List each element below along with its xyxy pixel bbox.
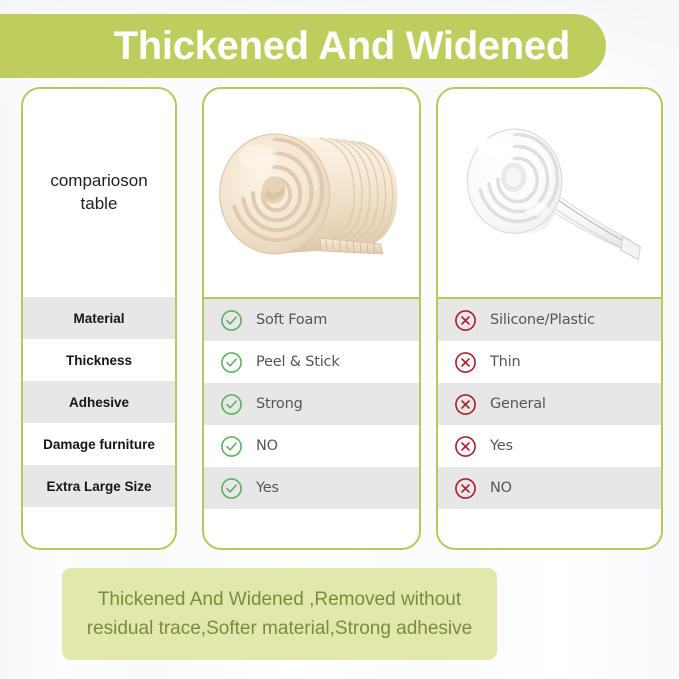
x-circle-icon xyxy=(454,351,477,374)
foam-value-rows: Soft Foam Peel & Stick xyxy=(204,299,419,509)
comparison-card-labels: comparioson table Material Thickness Adh… xyxy=(21,87,177,550)
footer-caption: Thickened And Widened ,Removed without r… xyxy=(62,568,497,660)
page-title: Thickened And Widened xyxy=(114,26,570,66)
infographic-page: Thickened And Widened comparioson table … xyxy=(0,0,679,679)
x-circle-icon xyxy=(454,393,477,416)
table-title-line-2: table xyxy=(81,194,118,213)
value-thickness-foam: Peel & Stick xyxy=(256,354,340,370)
table-row: Material xyxy=(23,297,175,339)
table-row: Adhesive xyxy=(23,381,175,423)
table-row: General xyxy=(438,383,661,425)
check-circle-icon xyxy=(220,393,243,416)
x-circle-icon xyxy=(454,477,477,500)
row-label-damage-furniture: Damage furniture xyxy=(23,437,175,452)
table-title-area: comparioson table xyxy=(23,89,175,297)
footer-caption-line-1: Thickened And Widened ,Removed without xyxy=(98,585,461,614)
table-row: Peel & Stick xyxy=(204,341,419,383)
value-damage-furniture-silicone: Yes xyxy=(490,438,513,454)
row-label-extra-large-size: Extra Large Size xyxy=(23,479,175,494)
check-circle-icon xyxy=(220,351,243,374)
table-row: Damage furniture xyxy=(23,423,175,465)
silicone-tape-illustration xyxy=(438,89,661,297)
foam-product-image xyxy=(204,89,419,299)
value-extra-large-size-foam: Yes xyxy=(256,480,279,496)
comparison-card-foam: Soft Foam Peel & Stick xyxy=(202,87,421,550)
header-banner: Thickened And Widened xyxy=(0,14,606,78)
table-row: Strong xyxy=(204,383,419,425)
table-title: comparioson table xyxy=(50,170,147,216)
table-row: Soft Foam xyxy=(204,299,419,341)
row-label-thickness: Thickness xyxy=(23,353,175,368)
table-row: Yes xyxy=(438,425,661,467)
check-circle-icon xyxy=(220,477,243,500)
table-row: Yes xyxy=(204,467,419,509)
x-circle-icon xyxy=(454,435,477,458)
value-thickness-silicone: Thin xyxy=(490,354,520,370)
value-adhesive-silicone: General xyxy=(490,396,546,412)
value-adhesive-foam: Strong xyxy=(256,396,303,412)
label-rows: Material Thickness Adhesive Damage furni… xyxy=(23,297,175,507)
x-circle-icon xyxy=(454,309,477,332)
table-title-line-1: comparioson xyxy=(50,171,147,190)
footer-caption-line-2: residual trace,Softer material,Strong ad… xyxy=(87,614,472,643)
table-row: Thickness xyxy=(23,339,175,381)
silicone-product-image xyxy=(438,89,661,299)
table-row: Silicone/Plastic xyxy=(438,299,661,341)
foam-roll-illustration xyxy=(204,89,419,297)
value-material-foam: Soft Foam xyxy=(256,312,327,328)
row-label-adhesive: Adhesive xyxy=(23,395,175,410)
value-extra-large-size-silicone: NO xyxy=(490,480,512,496)
value-material-silicone: Silicone/Plastic xyxy=(490,312,595,328)
table-row: Thin xyxy=(438,341,661,383)
row-label-material: Material xyxy=(23,311,175,326)
check-circle-icon xyxy=(220,435,243,458)
table-row: NO xyxy=(204,425,419,467)
comparison-card-silicone: Silicone/Plastic Thin xyxy=(436,87,663,550)
check-circle-icon xyxy=(220,309,243,332)
silicone-value-rows: Silicone/Plastic Thin xyxy=(438,299,661,509)
table-row: Extra Large Size xyxy=(23,465,175,507)
table-row: NO xyxy=(438,467,661,509)
value-damage-furniture-foam: NO xyxy=(256,438,278,454)
